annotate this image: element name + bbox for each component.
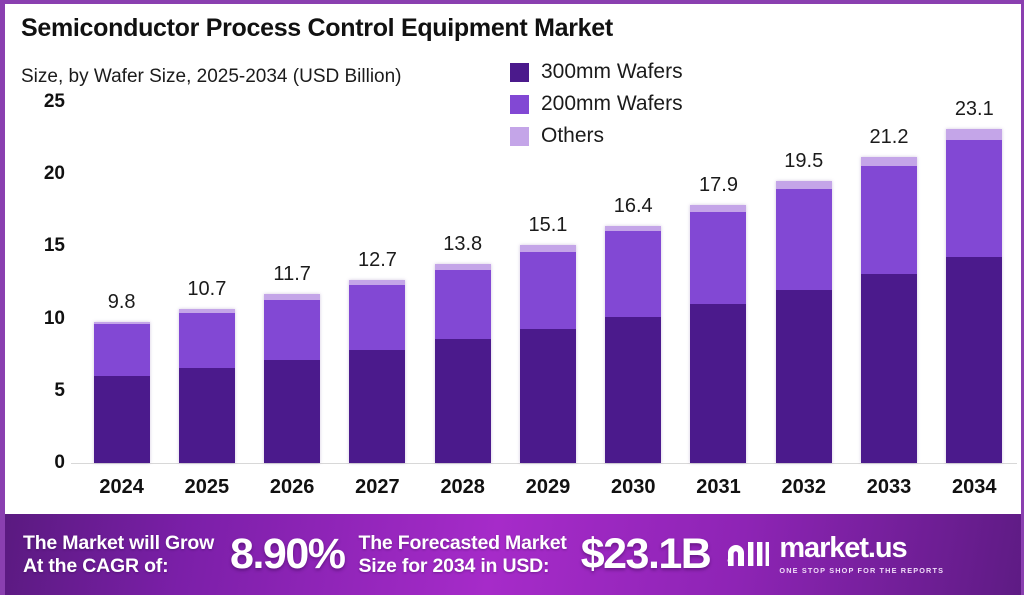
bar-segment[interactable] xyxy=(946,129,1002,139)
bar-segment[interactable] xyxy=(690,205,746,212)
bar-segment[interactable] xyxy=(94,324,150,376)
y-axis: 0510152025 xyxy=(5,102,73,463)
bar-segment[interactable] xyxy=(349,350,405,463)
x-axis-tick-label: 2029 xyxy=(505,476,590,508)
brand-tagline: ONE STOP SHOP FOR THE REPORTS xyxy=(779,566,944,575)
bar-segment[interactable] xyxy=(179,313,235,368)
x-axis-tick-label: 2033 xyxy=(846,476,931,508)
chart-infographic: Semiconductor Process Control Equipment … xyxy=(0,0,1024,595)
x-axis-tick-label: 2028 xyxy=(420,476,505,508)
bar-group[interactable]: 11.7 xyxy=(250,102,335,463)
bar-segment[interactable] xyxy=(861,274,917,463)
y-axis-tick-label: 5 xyxy=(54,380,65,402)
bar-stack[interactable] xyxy=(946,129,1002,463)
bar-group[interactable]: 10.7 xyxy=(164,102,249,463)
x-axis-tick-label: 2024 xyxy=(79,476,164,508)
y-axis-tick-label: 10 xyxy=(44,308,65,330)
x-axis-tick-label: 2025 xyxy=(164,476,249,508)
bar-segment[interactable] xyxy=(605,231,661,318)
brand-text: market.us ONE STOP SHOP FOR THE REPORTS xyxy=(779,534,944,575)
bar-segment[interactable] xyxy=(776,181,832,188)
x-axis-tick-label: 2031 xyxy=(676,476,761,508)
x-axis-tick-label: 2032 xyxy=(761,476,846,508)
bar-group[interactable]: 15.1 xyxy=(505,102,590,463)
legend-swatch-icon xyxy=(510,63,529,82)
bar-segment[interactable] xyxy=(861,166,917,274)
bar-segment[interactable] xyxy=(435,270,491,339)
legend-label: 300mm Wafers xyxy=(541,60,683,84)
bar-segment[interactable] xyxy=(179,368,235,463)
forecast-caption: The Forecasted Market Size for 2034 in U… xyxy=(358,532,566,578)
bar-value-label: 19.5 xyxy=(784,150,823,173)
cagr-value: 8.90% xyxy=(230,530,344,579)
legend-item[interactable]: 300mm Wafers xyxy=(510,60,683,84)
bar-segment[interactable] xyxy=(520,252,576,329)
cagr-caption: The Market will Grow At the CAGR of: xyxy=(23,532,214,578)
bar-segment[interactable] xyxy=(946,257,1002,463)
x-axis-tick-label: 2030 xyxy=(591,476,676,508)
y-axis-tick-label: 15 xyxy=(44,235,65,257)
bar-segment[interactable] xyxy=(435,339,491,463)
bar-value-label: 12.7 xyxy=(358,249,397,272)
bar-group[interactable]: 21.2 xyxy=(846,102,931,463)
bar-value-label: 16.4 xyxy=(614,195,653,218)
axis-baseline xyxy=(71,463,1017,464)
bar-stack[interactable] xyxy=(264,294,320,463)
bar-group[interactable]: 9.8 xyxy=(79,102,164,463)
market-us-logo-icon xyxy=(724,536,770,573)
forecast-caption-line1: The Forecasted Market xyxy=(358,532,566,555)
x-axis: 2024202520262027202820292030203120322033… xyxy=(79,476,1017,508)
y-axis-tick-label: 25 xyxy=(44,91,65,113)
bar-stack[interactable] xyxy=(776,181,832,463)
brand-logo[interactable]: market.us ONE STOP SHOP FOR THE REPORTS xyxy=(724,534,944,575)
cagr-caption-line1: The Market will Grow xyxy=(23,532,214,555)
bar-value-label: 13.8 xyxy=(443,233,482,256)
x-axis-tick-label: 2026 xyxy=(250,476,335,508)
y-axis-tick-label: 20 xyxy=(44,163,65,185)
bar-stack[interactable] xyxy=(861,157,917,463)
y-axis-tick-label: 0 xyxy=(54,452,65,474)
bar-stack[interactable] xyxy=(520,245,576,463)
bar-value-label: 23.1 xyxy=(955,98,994,121)
bar-segment[interactable] xyxy=(605,317,661,463)
bar-group[interactable]: 19.5 xyxy=(761,102,846,463)
bar-stack[interactable] xyxy=(349,280,405,463)
x-axis-tick-label: 2034 xyxy=(932,476,1017,508)
bar-segment[interactable] xyxy=(690,304,746,463)
bar-group[interactable]: 13.8 xyxy=(420,102,505,463)
bar-stack[interactable] xyxy=(179,309,235,464)
bar-series-group: 9.810.711.712.713.815.116.417.919.521.22… xyxy=(79,102,1017,463)
bar-segment[interactable] xyxy=(349,285,405,350)
bar-stack[interactable] xyxy=(94,322,150,464)
bar-group[interactable]: 17.9 xyxy=(676,102,761,463)
bar-value-label: 9.8 xyxy=(108,291,136,314)
bar-value-label: 11.7 xyxy=(273,263,310,286)
bar-segment[interactable] xyxy=(264,360,320,463)
bar-segment[interactable] xyxy=(520,245,576,252)
bar-segment[interactable] xyxy=(690,212,746,304)
cagr-caption-line2: At the CAGR of: xyxy=(23,555,214,578)
bar-group[interactable]: 23.1 xyxy=(932,102,1017,463)
bar-segment[interactable] xyxy=(861,157,917,166)
bar-segment[interactable] xyxy=(520,329,576,463)
bar-value-label: 10.7 xyxy=(187,278,226,301)
forecast-value: $23.1B xyxy=(581,530,711,579)
chart-subtitle: Size, by Wafer Size, 2025-2034 (USD Bill… xyxy=(21,66,402,88)
bar-segment[interactable] xyxy=(946,140,1002,257)
bar-value-label: 21.2 xyxy=(870,126,909,149)
brand-name: market.us xyxy=(779,534,944,563)
page-title: Semiconductor Process Control Equipment … xyxy=(21,14,613,43)
bar-value-label: 17.9 xyxy=(699,174,738,197)
bar-group[interactable]: 12.7 xyxy=(335,102,420,463)
bar-segment[interactable] xyxy=(264,300,320,361)
bar-segment[interactable] xyxy=(94,376,150,463)
bar-stack[interactable] xyxy=(435,264,491,463)
footer-banner: The Market will Grow At the CAGR of: 8.9… xyxy=(5,514,1021,595)
bar-value-label: 15.1 xyxy=(528,214,567,237)
bar-group[interactable]: 16.4 xyxy=(591,102,676,463)
bar-stack[interactable] xyxy=(690,205,746,463)
bar-stack[interactable] xyxy=(605,226,661,463)
bar-segment[interactable] xyxy=(776,290,832,463)
forecast-caption-line2: Size for 2034 in USD: xyxy=(358,555,566,578)
bar-segment[interactable] xyxy=(776,189,832,290)
x-axis-tick-label: 2027 xyxy=(335,476,420,508)
